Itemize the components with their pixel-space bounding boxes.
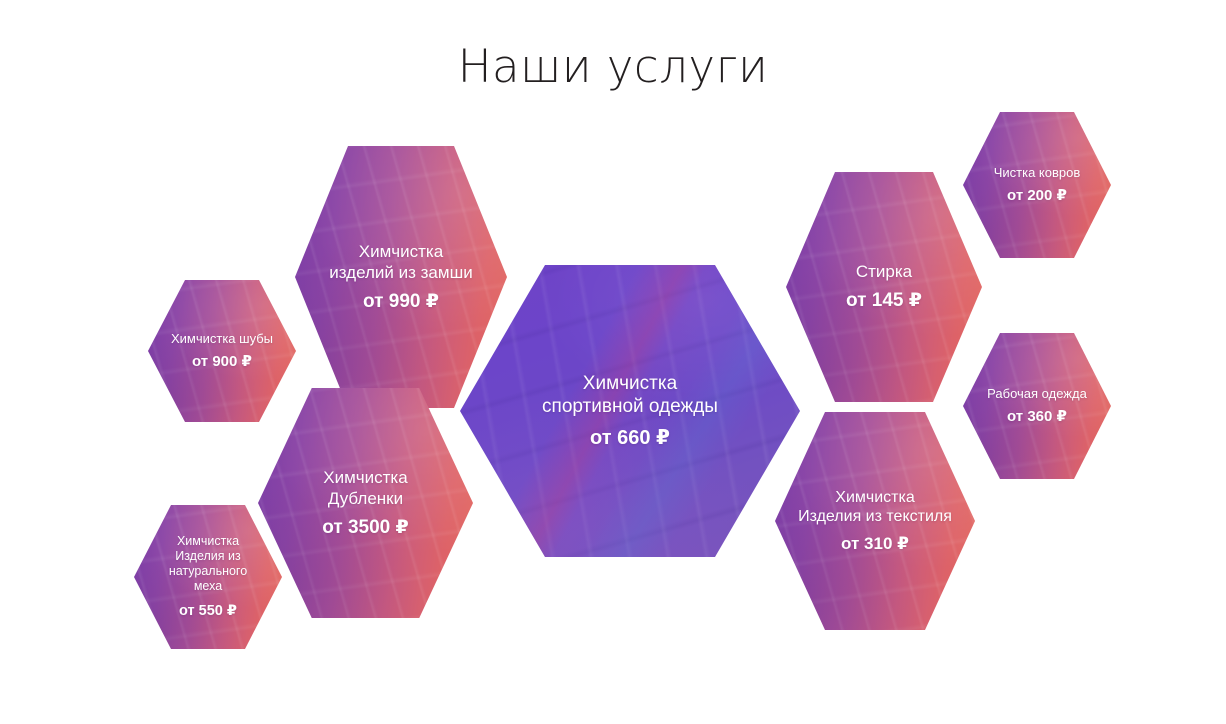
service-hex-shuba[interactable]: Химчистка шубы от 900 ₽ <box>148 280 296 422</box>
service-name-line: Химчистка <box>798 488 952 508</box>
service-label: Химчистка шубы от 900 ₽ <box>159 331 285 372</box>
service-label: Рабочая одежда от 360 ₽ <box>975 386 1098 427</box>
service-hex-tekstil[interactable]: Химчистка Изделия из текстиля от 310 ₽ <box>775 412 975 630</box>
service-name-line: изделий из замши <box>329 262 472 283</box>
service-label: Стирка от 145 ₽ <box>830 261 937 313</box>
service-name-line: Химчистка <box>169 534 247 549</box>
service-label: Химчистка Дубленки от 3500 ₽ <box>305 467 426 540</box>
service-hex-stirka[interactable]: Стирка от 145 ₽ <box>786 172 982 402</box>
service-name: Химчистка шубы <box>171 331 273 347</box>
service-name: Чистка ковров <box>994 165 1081 181</box>
service-price: от 3500 ₽ <box>322 516 408 540</box>
service-name-line: Химчистка <box>329 241 472 262</box>
service-name-line: натурального <box>169 564 247 579</box>
service-label: Химчистка изделий из замши от 990 ₽ <box>312 241 489 314</box>
service-label: Чистка ковров от 200 ₽ <box>982 165 1092 206</box>
service-name-line: Дубленки <box>322 488 408 509</box>
services-hexagon-board: Наши услуги Химчистка шубы от 900 ₽ Химч… <box>0 0 1226 724</box>
service-label: Химчистка Изделия из текстиля от 310 ₽ <box>782 488 968 555</box>
service-hex-dublenka[interactable]: Химчистка Дубленки от 3500 ₽ <box>258 388 473 618</box>
service-hex-naturalnyi-meh[interactable]: Химчистка Изделия из натурального меха о… <box>134 505 282 649</box>
service-hex-sportivnaya-odezhda[interactable]: Химчистка спортивной одежды от 660 ₽ <box>460 265 800 557</box>
service-name-line: Химчистка <box>542 372 718 396</box>
service-price: от 990 ₽ <box>329 290 472 314</box>
service-hex-chistka-kovrov[interactable]: Чистка ковров от 200 ₽ <box>963 112 1111 258</box>
service-name: Стирка <box>846 261 922 282</box>
service-price: от 360 ₽ <box>987 408 1087 427</box>
service-name-line: Изделия из <box>169 549 247 564</box>
service-hex-rabochaya-odezhda[interactable]: Рабочая одежда от 360 ₽ <box>963 333 1111 479</box>
page-title: Наши услуги <box>0 44 1226 89</box>
service-price: от 660 ₽ <box>542 426 718 451</box>
service-name-line: меха <box>169 579 247 594</box>
service-price: от 145 ₽ <box>846 289 922 313</box>
service-hex-zamsha[interactable]: Химчистка изделий из замши от 990 ₽ <box>295 146 507 408</box>
service-label: Химчистка Изделия из натурального меха о… <box>157 534 259 621</box>
service-name-line: Химчистка <box>322 467 408 488</box>
service-price: от 310 ₽ <box>798 533 952 554</box>
service-name-line: спортивной одежды <box>542 395 718 419</box>
service-label: Химчистка спортивной одежды от 660 ₽ <box>515 372 745 451</box>
service-name-line: Изделия из текстиля <box>798 507 952 527</box>
service-name: Рабочая одежда <box>987 386 1087 402</box>
service-price: от 200 ₽ <box>994 187 1081 206</box>
service-price: от 550 ₽ <box>169 603 247 621</box>
service-price: от 900 ₽ <box>171 353 273 372</box>
